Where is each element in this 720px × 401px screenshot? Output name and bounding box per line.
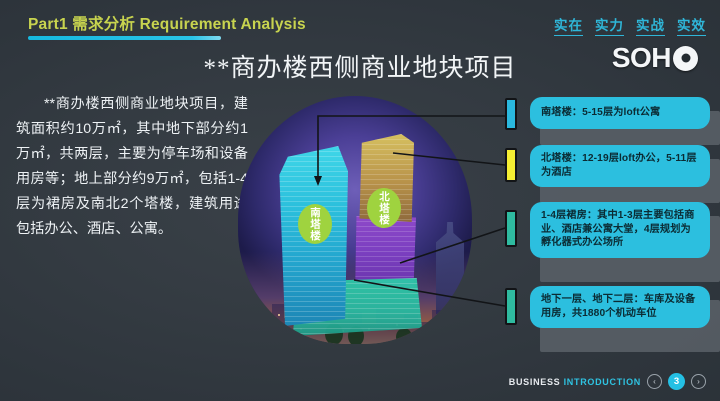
marker-bar-3 <box>505 210 517 247</box>
north-tower-badge: 北塔楼 <box>367 188 401 228</box>
callout-text: 地下一层、地下二层：车库及设备用房，共1880个机动车位 <box>530 286 710 328</box>
marker-bar-2 <box>505 148 517 182</box>
slogan-word-1: 实在 <box>554 14 583 36</box>
callout-north-tower: 北塔楼：12-19层loft办公，5-11层为酒店 <box>530 145 710 187</box>
callout-basement: 地下一层、地下二层：车库及设备用房，共1880个机动车位 <box>530 286 710 328</box>
south-tower-badge: 南塔楼 <box>298 204 332 244</box>
callout-text: 1-4层裙房：其中1-3层主要包括商业、酒店兼公寓大堂，4层规划为孵化器式办公场… <box>530 202 710 258</box>
page-number-badge: 3 <box>668 373 685 390</box>
prev-slide-button[interactable]: ‹ <box>647 374 662 389</box>
callout-text: 北塔楼：12-19层loft办公，5-11层为酒店 <box>530 145 710 187</box>
building-rendering: 南塔楼 北塔楼 <box>232 86 480 358</box>
next-slide-button[interactable]: › <box>691 374 706 389</box>
project-description: **商办楼西侧商业地块项目，建筑面积约10万㎡，其中地下部分约1万㎡，共两层，主… <box>16 92 248 242</box>
slogan-group: 实在 实力 实战 实效 <box>554 14 706 36</box>
marker-bar-4 <box>505 288 517 325</box>
slogan-word-3: 实战 <box>636 14 665 36</box>
footer-label-secondary: INTRODUCTION <box>564 377 641 387</box>
footer-label-primary: BUSINESS <box>509 377 561 387</box>
photo-disc: 南塔楼 北塔楼 <box>238 96 472 344</box>
project-title: **商办楼西侧商业地块项目 <box>0 48 720 84</box>
page-title: Part1 需求分析 Requirement Analysis <box>28 12 306 34</box>
callout-south-tower: 南塔楼：5-15层为loft公寓 <box>530 97 710 129</box>
title-underline-rule <box>28 36 221 40</box>
footer-bar: BUSINESS INTRODUCTION ‹ 3 › <box>509 373 706 390</box>
footer-label: BUSINESS INTRODUCTION <box>509 377 641 387</box>
callout-text: 南塔楼：5-15层为loft公寓 <box>530 97 710 129</box>
slogan-word-2: 实力 <box>595 14 624 36</box>
marker-bar-1 <box>505 98 517 130</box>
slogan-word-4: 实效 <box>677 14 706 36</box>
callout-podium: 1-4层裙房：其中1-3层主要包括商业、酒店兼公寓大堂，4层规划为孵化器式办公场… <box>530 202 710 258</box>
slide-canvas: Part1 需求分析 Requirement Analysis 实在 实力 实战… <box>0 0 720 401</box>
